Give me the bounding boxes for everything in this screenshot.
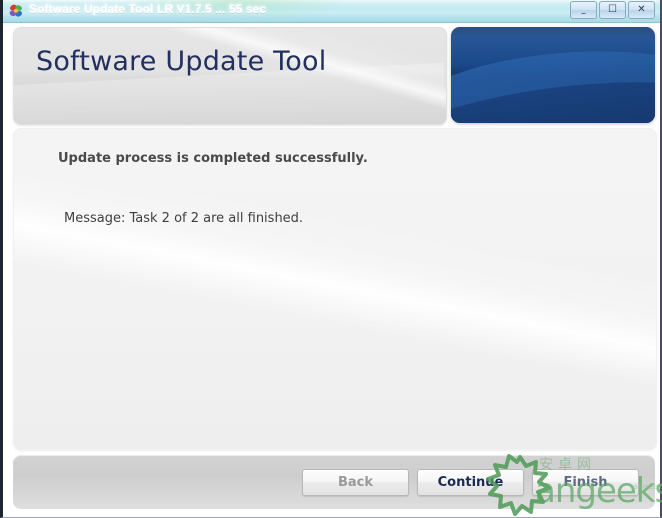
footer-bar: Back Continue Finish (13, 455, 655, 509)
header-panel: Software Update Tool (13, 27, 447, 125)
close-button[interactable]: ✕ (628, 1, 655, 19)
continue-button[interactable]: Continue (417, 469, 524, 496)
content-panel: Update process is completed successfully… (13, 128, 657, 450)
finish-button[interactable]: Finish (532, 469, 639, 496)
banner-image (451, 27, 655, 123)
minimize-icon: – (571, 9, 596, 19)
minimize-button[interactable]: – (570, 1, 597, 19)
window-controls: – ☐ ✕ (570, 1, 655, 19)
title-bar[interactable]: Software Update Tool LR V1.7.5 ... 55 se… (3, 0, 660, 23)
back-button[interactable]: Back (302, 469, 409, 496)
status-message: Update process is completed successfully… (58, 151, 368, 166)
detail-message: Message: Task 2 of 2 are all finished. (64, 211, 303, 226)
maximize-icon: ☐ (600, 5, 625, 15)
maximize-button[interactable]: ☐ (599, 1, 626, 19)
window-title: Software Update Tool LR V1.7.5 ... 55 se… (29, 2, 266, 16)
application-window: Software Update Tool LR V1.7.5 ... 55 se… (0, 0, 662, 518)
content-sheen (13, 169, 657, 409)
pinwheel-app-icon (8, 3, 24, 19)
close-icon: ✕ (629, 5, 654, 15)
page-title: Software Update Tool (36, 46, 326, 77)
